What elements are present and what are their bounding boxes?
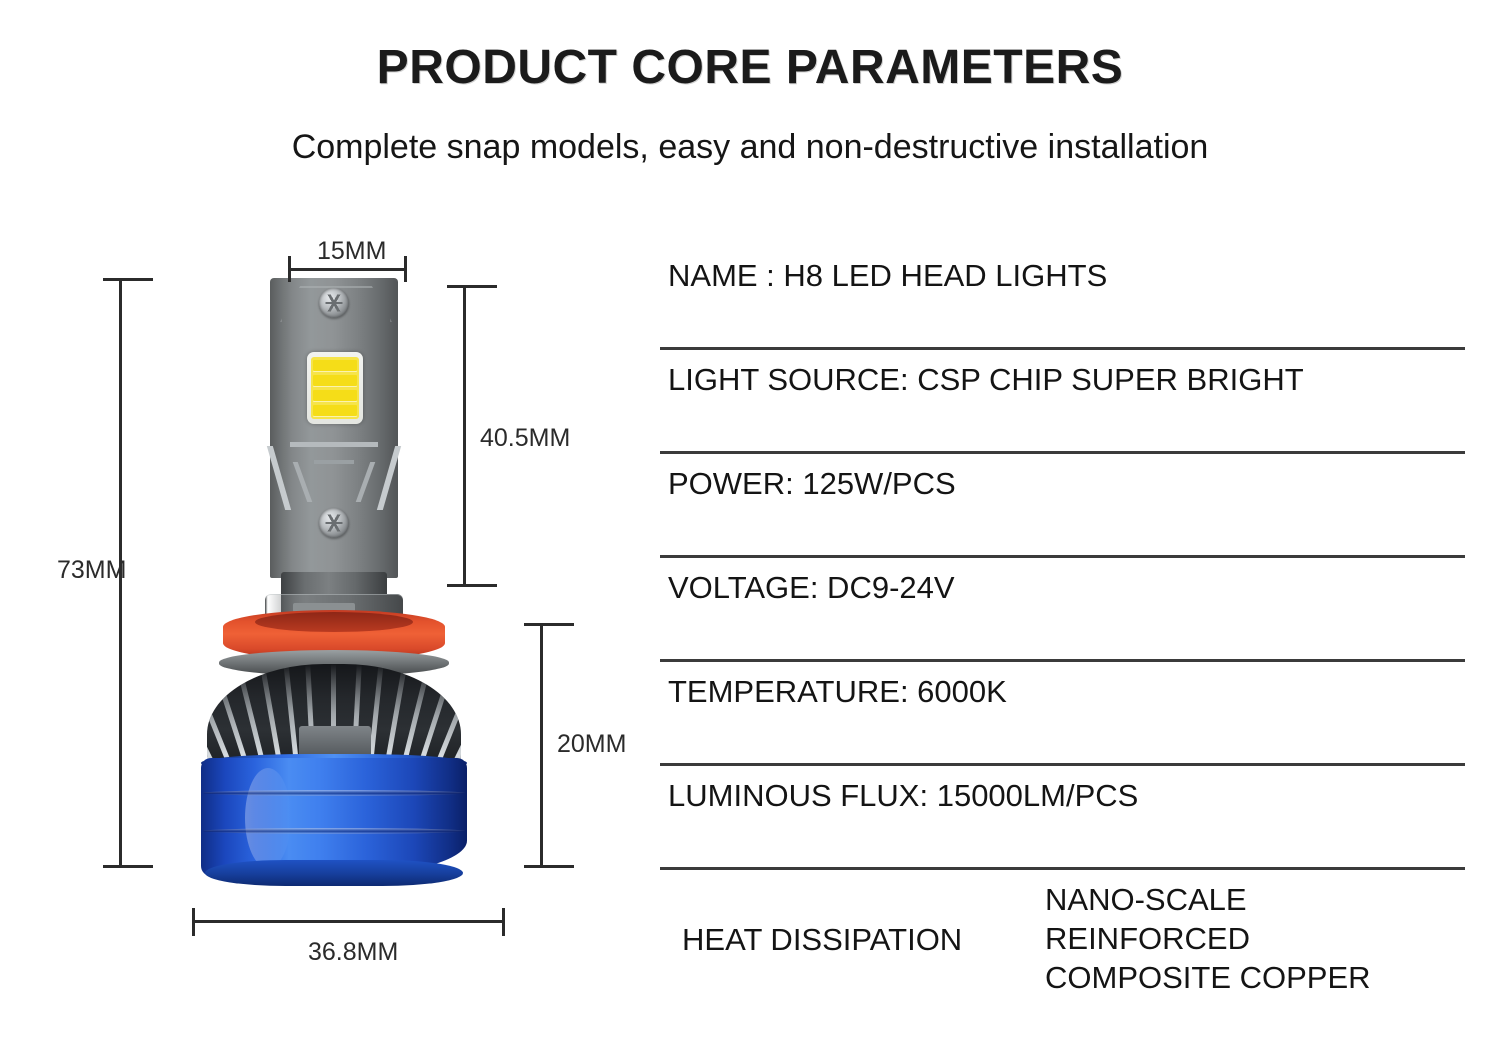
led-strip [313,375,357,386]
csp-chip [311,357,359,419]
blue-anodized-base [201,758,467,876]
dimension-label-width-top: 15MM [317,237,386,266]
spec-text: NAME : H8 LED HEAD LIGHTS [668,258,1107,294]
led-bulb-illustration [185,272,505,887]
page-subtitle: Complete snap models, easy and non-destr… [0,128,1500,167]
heat-value-line-2: REINFORCED [1045,919,1371,958]
dimension-label-height-total: 73MM [57,556,126,585]
dimension-line-height-base [540,623,543,868]
dimension-cap [103,865,153,868]
spec-row-voltage: VOLTAGE: DC9-24V [660,558,1465,662]
spec-row-heat-dissipation: HEAT DISSIPATION NANO-SCALE REINFORCED C… [660,870,1465,1020]
dimension-cap [524,865,574,868]
spec-row-light-source: LIGHT SOURCE: CSP CHIP SUPER BRIGHT [660,350,1465,454]
led-strip [313,360,357,371]
dimension-cap [502,908,505,936]
dimension-cap [447,584,497,587]
dimension-line-width-top [288,268,407,271]
dimension-cap [192,908,195,936]
spec-row-temperature: TEMPERATURE: 6000K [660,662,1465,766]
spec-list: NAME : H8 LED HEAD LIGHTS LIGHT SOURCE: … [660,246,1465,1020]
chevron-icon [293,462,313,502]
gasket-inner-shadow [255,612,413,632]
spec-text: POWER: 125W/PCS [668,466,956,502]
base-groove [203,828,465,834]
dimension-line-width-bottom [192,920,505,923]
spec-text: LUMINOUS FLUX: 15000LM/PCS [668,778,1138,814]
page-title: PRODUCT CORE PARAMETERS [0,40,1500,95]
chevron-icon [377,446,401,510]
chevron-icon [356,462,376,502]
dimension-cap [103,278,153,281]
base-groove [203,790,465,796]
dimension-label-height-base: 20MM [557,730,626,759]
screw-icon [319,508,349,538]
spec-row-name: NAME : H8 LED HEAD LIGHTS [660,246,1465,350]
chevron-icon [314,460,354,464]
led-strip [313,405,357,416]
dimension-line-height-head [463,285,466,587]
heat-value-line-1: NANO-SCALE [1045,880,1371,919]
spec-text: LIGHT SOURCE: CSP CHIP SUPER BRIGHT [668,362,1304,398]
chevron-icon [267,446,291,510]
spec-row-luminous-flux: LUMINOUS FLUX: 15000LM/PCS [660,766,1465,870]
blue-base-bottom [205,860,463,886]
dimension-cap [288,256,291,282]
dimension-cap [404,256,407,282]
spec-row-power: POWER: 125W/PCS [660,454,1465,558]
dimension-cap [447,285,497,288]
base-highlight [245,768,291,868]
heat-dissipation-label: HEAT DISSIPATION [682,922,962,958]
spec-text: TEMPERATURE: 6000K [668,674,1007,710]
chevron-icon [290,442,378,447]
dimension-line-height-total [119,278,122,868]
dimension-cap [524,623,574,626]
dimension-label-width-bottom: 36.8MM [308,938,398,967]
led-strip [313,390,357,401]
screw-icon [319,288,349,318]
heat-dissipation-value: NANO-SCALE REINFORCED COMPOSITE COPPER [1045,880,1371,997]
heat-value-line-3: COMPOSITE COPPER [1045,958,1371,997]
spec-text: VOLTAGE: DC9-24V [668,570,955,606]
product-spec-page: PRODUCT CORE PARAMETERS Complete snap mo… [0,0,1500,1061]
dimension-label-height-head: 40.5MM [480,424,570,453]
